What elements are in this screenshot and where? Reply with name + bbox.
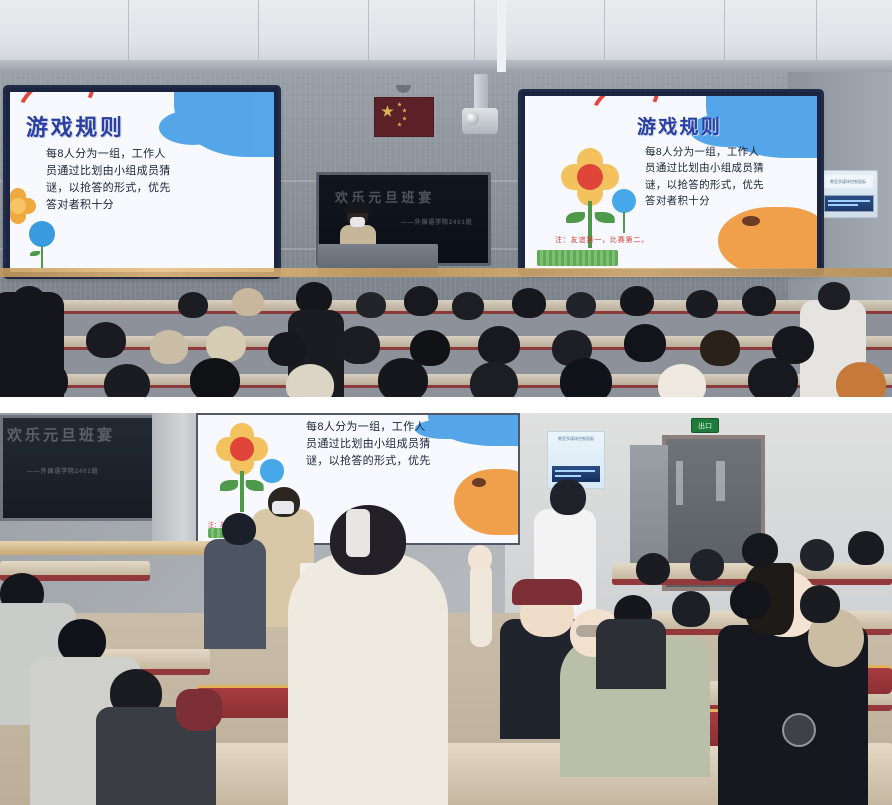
blue-flower-icon [611, 188, 637, 214]
blackboard: 欢乐元旦班宴 ——外国语学院2401班 [0, 415, 158, 521]
slide-title: 游戏规则 [26, 110, 125, 142]
photo-top: 教室多媒体控制面板 [0, 0, 892, 397]
slide-left: 游戏规则 每8人分为一组，工作人 员通过比划由小组成员猜 谜，以抢答的形式，优先… [10, 92, 274, 272]
slide-body: 每8人分为一组，工作人 员通过比划由小组成员猜 谜，以抢答的形式，优先 答对者积… [46, 146, 171, 214]
blackboard-subline: ——外国语学院2401班 [27, 466, 98, 475]
photo-bottom: 欢乐元旦班宴 ——外国语学院2401班 [0, 413, 892, 805]
slide-note: 注：友谊第一，比赛第二。 [555, 235, 649, 245]
blackboard-headline: 欢乐元旦班宴 [7, 424, 115, 445]
chinese-flag [374, 97, 434, 137]
slide-body: 每8人分为一组，工作人 员通过比划由小组成员猜 谜，以抢答的形式，优先 答对者积… [645, 144, 764, 209]
wall-control-panel: 教室多媒体控制面板 [818, 170, 878, 218]
slide-right: 游戏规则 每8人分为一组，工作人 员通过比划由小组成员猜 谜，以抢答的形式，优先… [525, 96, 817, 269]
blue-flower-icon [28, 220, 56, 248]
photo-collage: 教室多媒体控制面板 [0, 0, 892, 805]
blue-flower-icon [260, 459, 284, 483]
projection-screen-right: 游戏规则 每8人分为一组，工作人 员通过比划由小组成员猜 谜，以抢答的形式，优先… [521, 92, 821, 273]
ceiling-beam [0, 60, 892, 72]
projection-screen-left: 游戏规则 每8人分为一组，工作人 员通过比划由小组成员猜 谜，以抢答的形式，优先… [6, 88, 278, 276]
stage-ledge [0, 541, 210, 555]
ceiling-column [497, 0, 506, 78]
exit-sign: 出口 [691, 418, 719, 433]
ceiling-projector [474, 74, 488, 122]
wall-panel-label: 教室多媒体控制面板 [551, 436, 601, 450]
wall-light-strip [0, 268, 892, 277]
slide-body: 每8人分为一组，工作人 员通过比划由小组成员猜 谜，以抢答的形式，优先 [306, 419, 431, 470]
slide-title: 游戏规则 [637, 112, 722, 139]
collage-gap [0, 397, 892, 413]
orange-flower-icon [10, 188, 36, 224]
blackboard-subline: ——外国语学院2401班 [401, 217, 472, 226]
wall-panel-label: 教室多媒体控制面板 [823, 175, 873, 188]
